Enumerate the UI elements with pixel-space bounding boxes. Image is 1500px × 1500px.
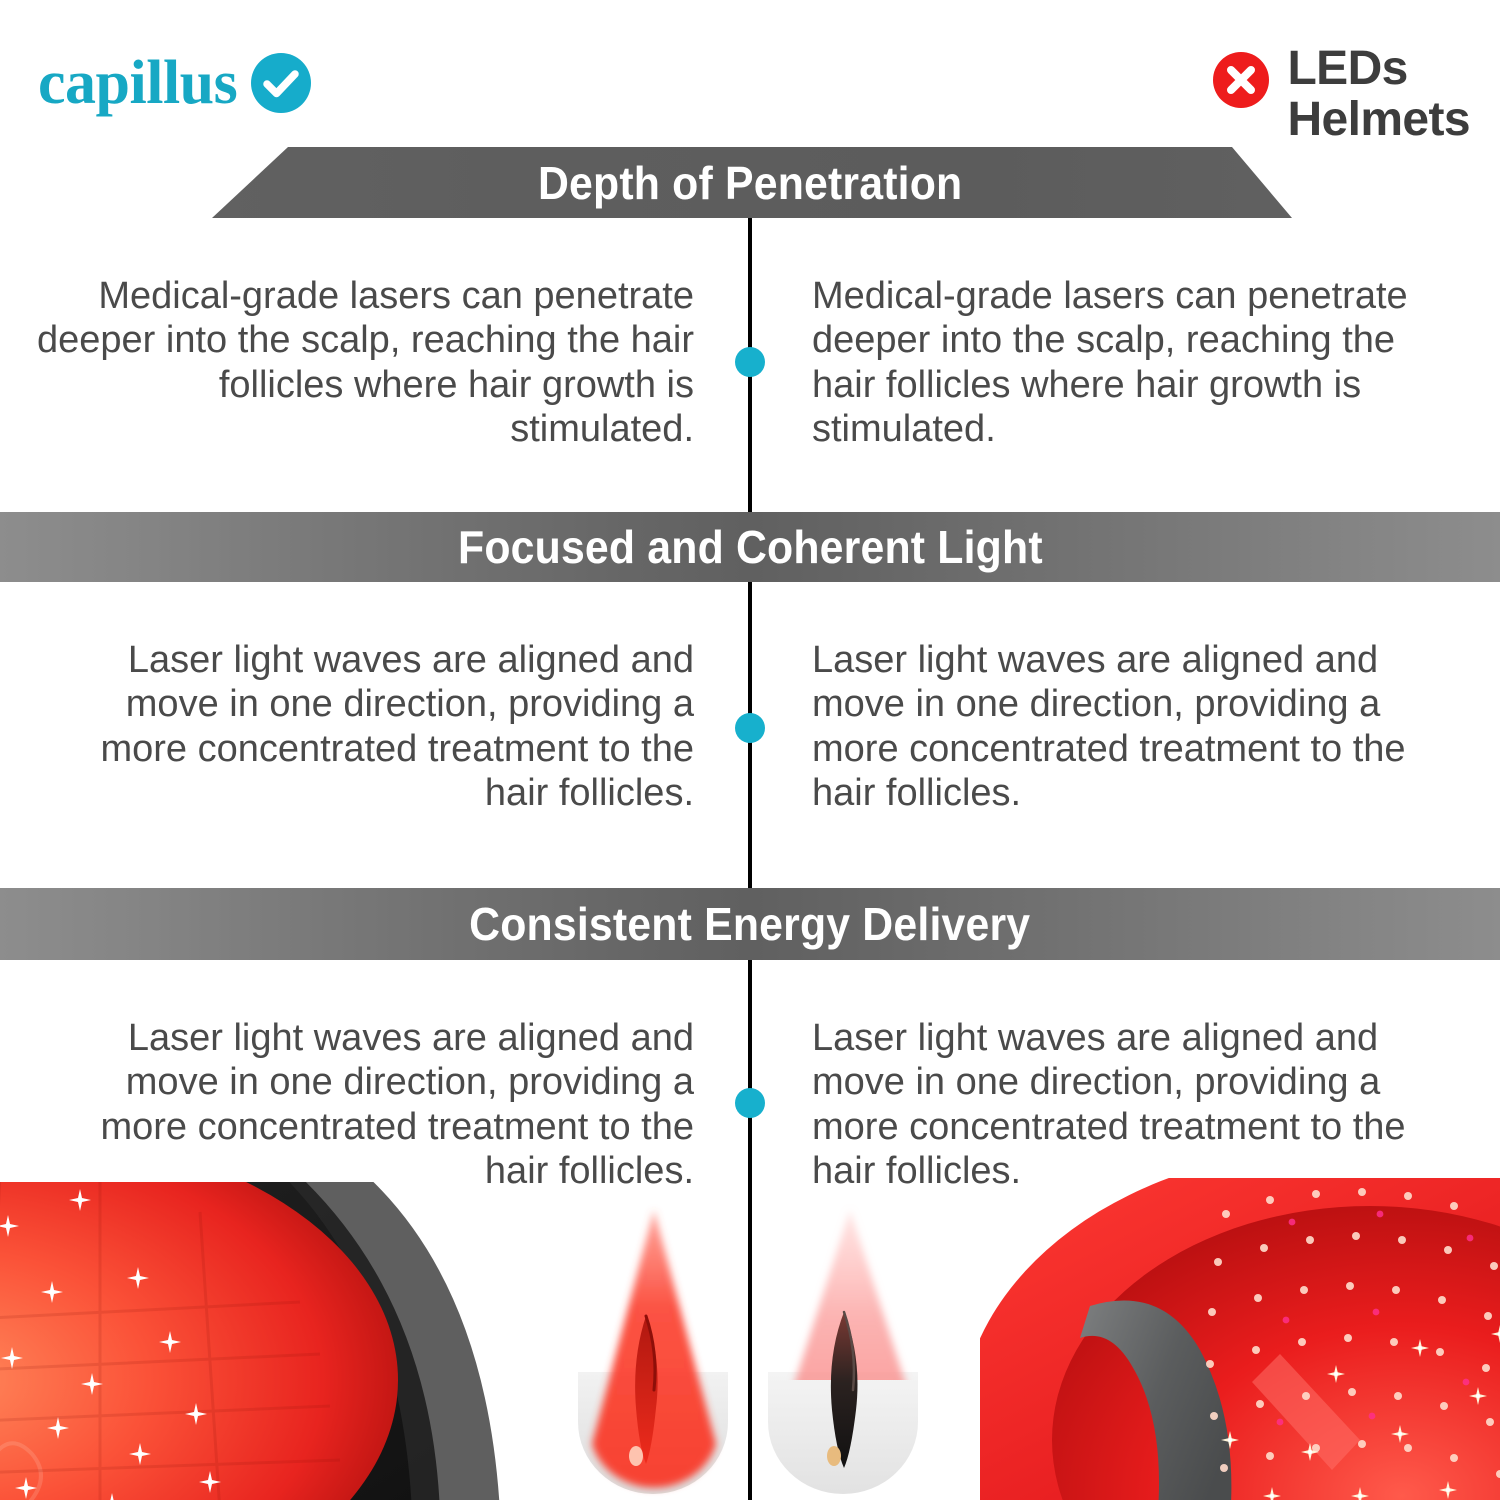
section-title: Consistent Energy Delivery [469,897,1030,951]
x-circle-icon [1213,52,1269,108]
capillus-wordmark: capillus [38,52,237,114]
section-1-left-text: Medical-grade lasers can penetrate deepe… [30,274,694,452]
brand-leds-helmets: LEDs Helmets [1213,44,1470,146]
check-circle-icon [251,53,311,113]
comparison-infographic: capillus LEDs Helmets Depth of Penet [0,0,1500,1500]
section-title: Focused and Coherent Light [458,520,1043,574]
led-helmet-photo [980,1178,1500,1500]
section-1-divider-dot [735,347,765,377]
section-2-right-text: Laser light waves are aligned and move i… [812,638,1460,816]
center-divider-segment-3 [748,960,752,1500]
leds-label: LEDs [1287,42,1407,95]
section-3-right-text: Laser light waves are aligned and move i… [812,1016,1460,1194]
brand-capillus: capillus [38,52,311,114]
section-2-left-text: Laser light waves are aligned and move i… [30,638,694,816]
section-3-left-text: Laser light waves are aligned and move i… [30,1016,694,1194]
header: capillus LEDs Helmets [0,0,1500,147]
section-2-divider-dot [735,713,765,743]
leds-helmets-label: LEDs Helmets [1287,44,1470,146]
section-title: Depth of Penetration [538,156,962,210]
capillus-laser-cap-photo [0,1182,560,1500]
section-banner-consistent-energy-delivery: Consistent Energy Delivery [0,888,1500,960]
section-1-right-text: Medical-grade lasers can penetrate deepe… [812,274,1460,452]
section-banner-depth-of-penetration: Depth of Penetration [0,147,1500,218]
section-3-divider-dot [735,1088,765,1118]
hair-follicle-shallow-led-penetration-diagram [752,1204,942,1500]
helmets-label: Helmets [1287,95,1470,146]
section-banner-focused-and-coherent-light: Focused and Coherent Light [0,512,1500,582]
hair-follicle-deep-laser-penetration-diagram [558,1204,748,1500]
